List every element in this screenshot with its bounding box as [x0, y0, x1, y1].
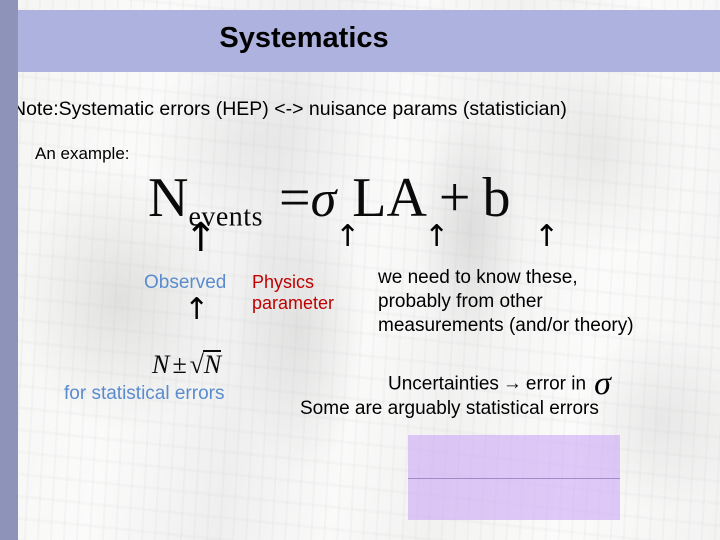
note-line: Note:Systematic errors (HEP) <-> nuisanc… — [12, 98, 567, 121]
stat-formula-n: N — [152, 350, 169, 379]
equation-background: b — [482, 167, 510, 229]
an-example-label: An example: — [35, 144, 130, 164]
some-are-statistical-line: Some are arguably statistical errors — [300, 398, 599, 420]
uncertainties-mid: error in — [526, 373, 586, 394]
label-physics-line1: Physics — [252, 272, 334, 293]
need-line-3: measurements (and/or theory) — [378, 314, 634, 338]
left-sidebar — [0, 0, 18, 540]
label-physics-line2: parameter — [252, 293, 334, 314]
statistical-error-formula: N±√N — [152, 348, 221, 380]
need-line-1: we need to know these, — [378, 266, 634, 290]
arrow-to-background: ↑ — [534, 222, 559, 252]
arrow-to-sigma: ↑ — [335, 222, 360, 252]
stat-formula-radicand: N — [204, 350, 221, 379]
stat-formula-plusminus: ± — [172, 350, 186, 379]
arrow-to-luminosity-acceptance: ↑ — [424, 222, 449, 252]
content-placeholder-box — [408, 435, 620, 520]
equation-n: N — [148, 167, 188, 229]
label-for-statistical-errors: for statistical errors — [64, 383, 224, 405]
label-physics-parameter: Physics parameter — [252, 272, 334, 314]
label-observed: Observed — [144, 272, 226, 294]
need-line-2: probably from other — [378, 290, 634, 314]
sqrt-icon: √ — [190, 350, 204, 379]
need-to-know-block: we need to know these, probably from oth… — [378, 266, 634, 338]
equation-luminosity-acceptance: LA — [352, 167, 427, 229]
stat-formula-sqrt-group: √N — [190, 348, 222, 380]
arrow-observed-to-n: ↑ — [184, 295, 209, 325]
sqrt-vinculum — [203, 350, 221, 352]
equation-sigma: σ — [311, 171, 337, 228]
right-arrow-icon: → — [503, 373, 522, 394]
slide-canvas: 18 Phystat05 Highlights MKU Systematics … — [0, 0, 720, 540]
equation-equals: = — [279, 167, 311, 229]
placeholder-divider — [408, 478, 620, 479]
uncertainties-sigma-symbol: σ — [594, 365, 611, 402]
page-title: Systematics — [18, 22, 720, 55]
arrow-to-n-events: ↑ — [184, 218, 218, 258]
uncertainties-prefix: Uncertainties — [388, 373, 499, 394]
